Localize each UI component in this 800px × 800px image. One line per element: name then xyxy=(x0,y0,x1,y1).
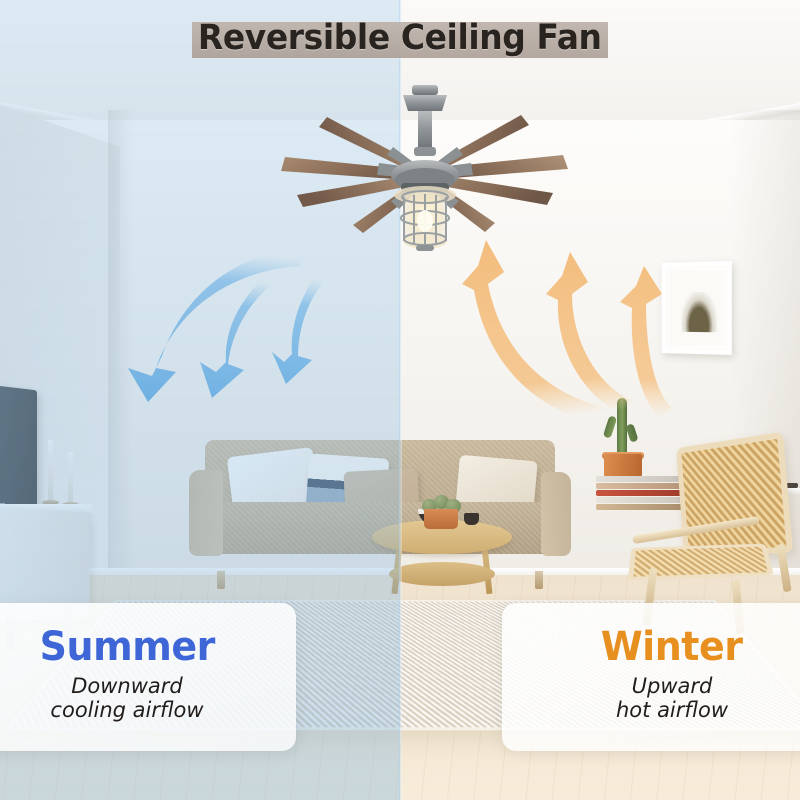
winter-season-label: Winter xyxy=(601,627,743,668)
framed-artwork xyxy=(662,261,732,355)
page-title: Reversible Ceiling Fan xyxy=(198,18,602,58)
wall-corner-shadow xyxy=(108,110,134,610)
candlestick xyxy=(48,440,53,502)
winter-description-line-2: hot airflow xyxy=(616,698,728,723)
candlestick xyxy=(68,452,73,504)
sofa-arm xyxy=(541,472,571,556)
potted-cactus-small xyxy=(418,487,464,529)
summer-label-card: Summer Downward cooling airflow xyxy=(0,603,296,751)
fan-mount xyxy=(403,85,447,156)
table-lower-shelf xyxy=(389,562,495,586)
fan-light-kit xyxy=(394,186,456,251)
cactus-arm xyxy=(603,415,617,438)
sofa-leg xyxy=(217,571,225,589)
terracotta-pot xyxy=(424,509,458,529)
infographic-canvas: Reversible Ceiling Fan Summer Downward c… xyxy=(0,0,800,800)
ceiling-fan xyxy=(275,85,575,260)
winter-description-line-1: Upward xyxy=(616,674,728,699)
artwork-image xyxy=(682,292,717,332)
cage-finial xyxy=(416,245,434,251)
summer-description: Downward cooling airflow xyxy=(50,674,203,724)
summer-description-line-2: cooling airflow xyxy=(50,698,203,723)
coffee-table xyxy=(372,520,512,605)
rattan-lounge-chair xyxy=(630,440,795,630)
winter-description: Upward hot airflow xyxy=(616,674,728,724)
sofa-arm xyxy=(189,470,223,556)
cup xyxy=(464,513,479,525)
summer-season-label: Summer xyxy=(39,627,214,668)
winter-label-card: Winter Upward hot airflow xyxy=(502,603,800,751)
title-banner: Reversible Ceiling Fan xyxy=(0,18,800,58)
chair-backrest xyxy=(676,432,793,557)
summer-description-line-1: Downward xyxy=(50,674,203,699)
light-bulb xyxy=(417,210,433,232)
sofa-leg xyxy=(535,571,543,589)
